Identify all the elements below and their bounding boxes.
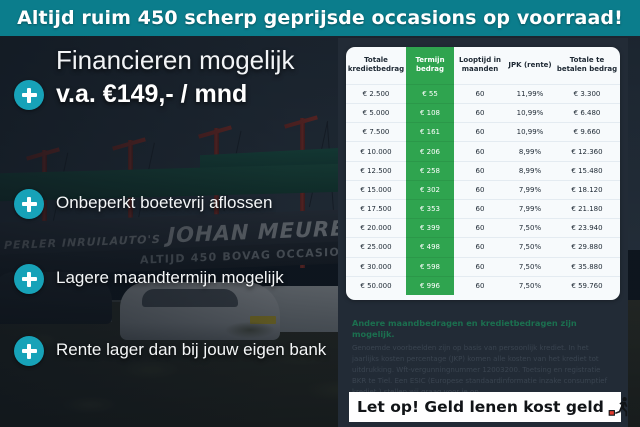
table-cell: € 3.300 bbox=[554, 84, 620, 103]
table-row: € 5.000€ 1086010,99%€ 6.480 bbox=[346, 104, 620, 123]
promo-headline: Financieren mogelijk bbox=[56, 46, 346, 75]
table-cell: 7,50% bbox=[506, 219, 554, 238]
column-header-total-payable: Totale te betalen bedrag bbox=[554, 47, 620, 84]
table-cell: € 35.880 bbox=[554, 257, 620, 276]
table-cell: 10,99% bbox=[506, 104, 554, 123]
table-cell: € 399 bbox=[406, 219, 454, 238]
table-cell: € 498 bbox=[406, 238, 454, 257]
finance-note: Andere maandbedragen en kredietbedragen … bbox=[352, 318, 614, 398]
advert-banner: PERLER INRUILAUTO'S JOHAN MEURE ALTIJD 4… bbox=[0, 0, 640, 427]
column-header-total-credit: Totale kredietbedrag bbox=[346, 47, 406, 84]
plus-icon bbox=[14, 336, 44, 366]
table-cell: € 50.000 bbox=[346, 276, 406, 295]
table-cell: € 7.500 bbox=[346, 123, 406, 142]
table-cell: € 353 bbox=[406, 200, 454, 219]
plus-icon bbox=[14, 189, 44, 219]
table-cell: € 258 bbox=[406, 161, 454, 180]
plus-icon bbox=[14, 264, 44, 294]
table-cell: € 6.480 bbox=[554, 104, 620, 123]
table-cell: € 10.000 bbox=[346, 142, 406, 161]
table-row: € 15.000€ 302607,99%€ 18.120 bbox=[346, 180, 620, 199]
table-cell: 8,99% bbox=[506, 142, 554, 161]
table-cell: 60 bbox=[454, 84, 506, 103]
table-cell: € 12.360 bbox=[554, 142, 620, 161]
table-row: € 17.500€ 353607,99%€ 21.180 bbox=[346, 200, 620, 219]
table-cell: 60 bbox=[454, 161, 506, 180]
table-row: € 12.500€ 258608,99%€ 15.480 bbox=[346, 161, 620, 180]
table-cell: 60 bbox=[454, 257, 506, 276]
promo-bullet: Lagere maandtermijn mogelijk bbox=[56, 268, 346, 288]
table-row: € 7.500€ 1616010,99%€ 9.660 bbox=[346, 123, 620, 142]
table-cell: € 15.480 bbox=[554, 161, 620, 180]
table-cell: € 59.760 bbox=[554, 276, 620, 295]
table-cell: 60 bbox=[454, 238, 506, 257]
table-cell: € 996 bbox=[406, 276, 454, 295]
table-cell: 7,99% bbox=[506, 200, 554, 219]
table-cell: 7,50% bbox=[506, 238, 554, 257]
table-cell: € 9.660 bbox=[554, 123, 620, 142]
table-cell: € 17.500 bbox=[346, 200, 406, 219]
running-man-ball-and-chain-icon bbox=[608, 397, 632, 417]
table-cell: 7,50% bbox=[506, 257, 554, 276]
promo-bullet: Rente lager dan bij jouw eigen bank bbox=[56, 340, 346, 360]
table-cell: € 30.000 bbox=[346, 257, 406, 276]
loan-warning-text: Let op! Geld lenen kost geld bbox=[357, 398, 604, 416]
table-cell: € 12.500 bbox=[346, 161, 406, 180]
table-row: € 10.000€ 206608,99%€ 12.360 bbox=[346, 142, 620, 161]
finance-table: Totale kredietbedrag Termijn bedrag Loop… bbox=[346, 47, 620, 295]
column-header-duration: Looptijd in maanden bbox=[454, 47, 506, 84]
table-cell: 7,50% bbox=[506, 276, 554, 295]
table-row: € 50.000€ 996607,50%€ 59.760 bbox=[346, 276, 620, 295]
promo-bullet: Onbeperkt boetevrij aflossen bbox=[56, 193, 346, 213]
promo-column: Financieren mogelijk v.a. €149,- / mnd O… bbox=[0, 36, 345, 427]
table-header-row: Totale kredietbedrag Termijn bedrag Loop… bbox=[346, 47, 620, 84]
column-header-apr: JPK (rente) bbox=[506, 47, 554, 84]
top-banner: Altijd ruim 450 scherp geprijsde occasio… bbox=[0, 0, 640, 36]
finance-note-body: Genoemde voorbeelden zijn op basis van p… bbox=[352, 343, 614, 397]
table-cell: € 206 bbox=[406, 142, 454, 161]
finance-table-card: Totale kredietbedrag Termijn bedrag Loop… bbox=[346, 47, 620, 300]
table-cell: € 5.000 bbox=[346, 104, 406, 123]
column-header-monthly-amount: Termijn bedrag bbox=[406, 47, 454, 84]
table-cell: € 21.180 bbox=[554, 200, 620, 219]
loan-warning-bar: Let op! Geld lenen kost geld bbox=[349, 392, 621, 422]
table-cell: € 23.940 bbox=[554, 219, 620, 238]
table-cell: € 161 bbox=[406, 123, 454, 142]
table-cell: 60 bbox=[454, 200, 506, 219]
table-cell: € 15.000 bbox=[346, 180, 406, 199]
table-row: € 25.000€ 498607,50%€ 29.880 bbox=[346, 238, 620, 257]
table-cell: 8,99% bbox=[506, 161, 554, 180]
table-row: € 30.000€ 598607,50%€ 35.880 bbox=[346, 257, 620, 276]
top-banner-text: Altijd ruim 450 scherp geprijsde occasio… bbox=[17, 7, 623, 29]
table-cell: € 20.000 bbox=[346, 219, 406, 238]
table-cell: € 29.880 bbox=[554, 238, 620, 257]
table-cell: € 2.500 bbox=[346, 84, 406, 103]
table-row: € 20.000€ 399607,50%€ 23.940 bbox=[346, 219, 620, 238]
table-cell: 60 bbox=[454, 180, 506, 199]
finance-note-title: Andere maandbedragen en kredietbedragen … bbox=[352, 318, 614, 339]
table-cell: 11,99% bbox=[506, 84, 554, 103]
table-cell: 10,99% bbox=[506, 123, 554, 142]
promo-subline: v.a. €149,- / mnd bbox=[56, 80, 346, 109]
finance-panel-foot bbox=[338, 422, 628, 427]
table-cell: € 55 bbox=[406, 84, 454, 103]
table-cell: 60 bbox=[454, 123, 506, 142]
table-cell: € 108 bbox=[406, 104, 454, 123]
table-cell: € 302 bbox=[406, 180, 454, 199]
table-cell: 7,99% bbox=[506, 180, 554, 199]
table-cell: 60 bbox=[454, 104, 506, 123]
table-cell: € 25.000 bbox=[346, 238, 406, 257]
table-cell: € 598 bbox=[406, 257, 454, 276]
table-cell: € 18.120 bbox=[554, 180, 620, 199]
table-cell: 60 bbox=[454, 276, 506, 295]
table-body: € 2.500€ 556011,99%€ 3.300€ 5.000€ 10860… bbox=[346, 84, 620, 295]
table-cell: 60 bbox=[454, 219, 506, 238]
plus-icon bbox=[14, 80, 44, 110]
table-row: € 2.500€ 556011,99%€ 3.300 bbox=[346, 84, 620, 103]
table-cell: 60 bbox=[454, 142, 506, 161]
